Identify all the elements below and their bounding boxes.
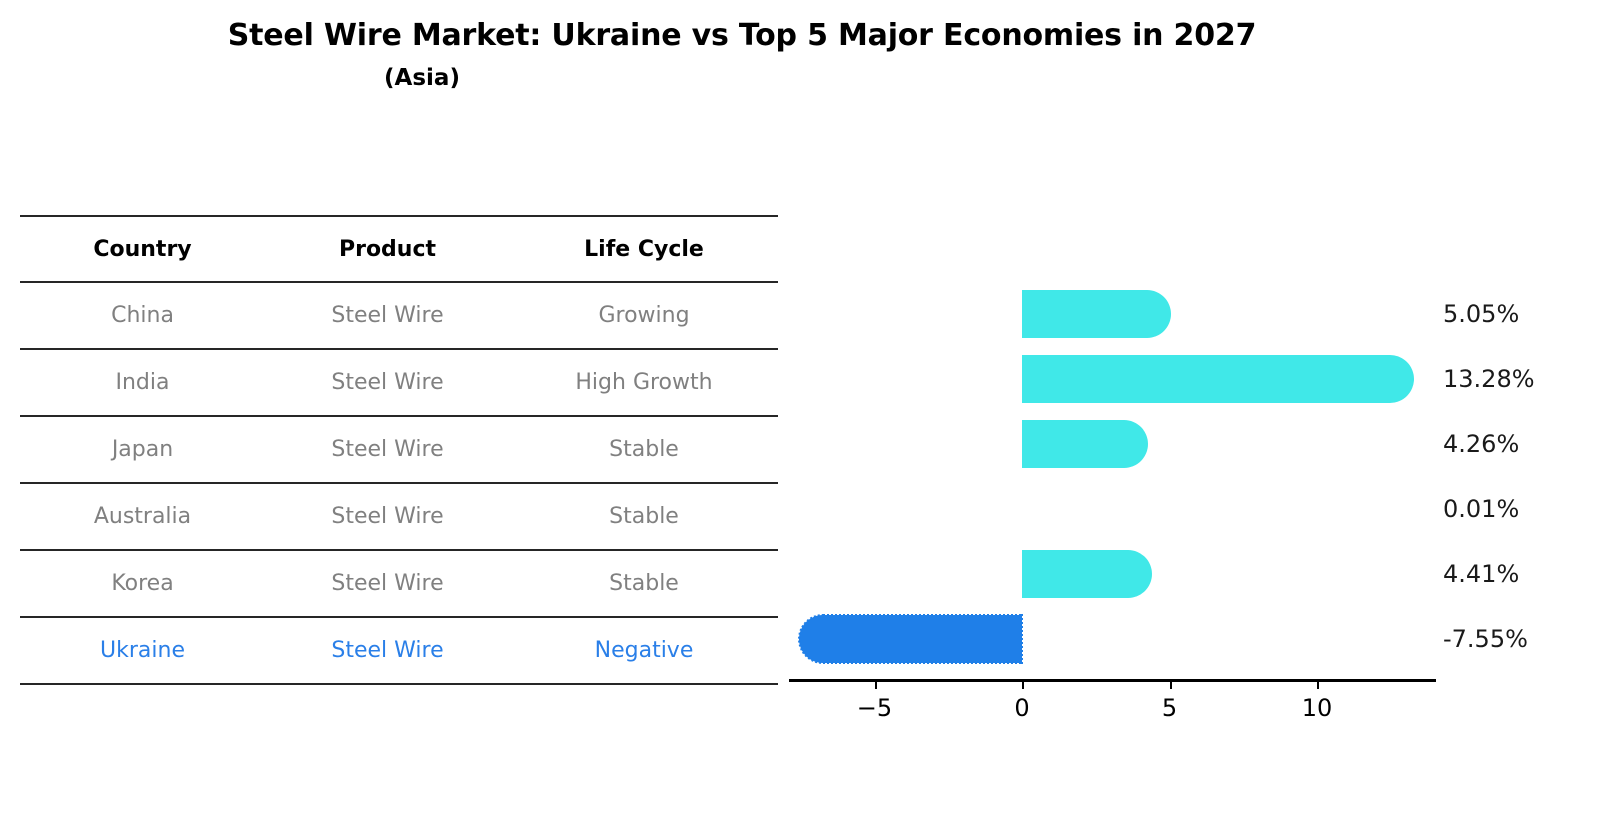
x-tick-5 <box>1170 680 1172 689</box>
bar-value-label-korea: 4.41% <box>1443 550 1519 598</box>
cell-product: Steel Wire <box>265 349 510 416</box>
bar-value-label-japan: 4.26% <box>1443 420 1519 468</box>
table-row: Australia Steel Wire Stable <box>20 483 778 550</box>
column-header-country: Country <box>20 216 265 282</box>
bar-value-label-india: 13.28% <box>1443 355 1535 403</box>
x-tick-label-0: 0 <box>982 694 1062 722</box>
x-tick-0 <box>1022 680 1024 689</box>
cell-life-cycle: Negative <box>510 617 778 684</box>
cell-country: China <box>20 282 265 349</box>
cell-country: India <box>20 349 265 416</box>
table-row: Korea Steel Wire Stable <box>20 550 778 617</box>
cell-product: Steel Wire <box>265 282 510 349</box>
x-tick-label--5: −5 <box>835 694 915 722</box>
x-tick-label-5: 5 <box>1130 694 1210 722</box>
page-subtitle: (Asia) <box>0 58 1604 98</box>
table-row: India Steel Wire High Growth <box>20 349 778 416</box>
bar-ukraine <box>799 615 1022 663</box>
bar-value-label-china: 5.05% <box>1443 290 1519 338</box>
bar-korea <box>1022 550 1152 598</box>
bar-japan <box>1022 420 1148 468</box>
cell-country: Ukraine <box>20 617 265 684</box>
x-axis-line <box>789 679 1436 682</box>
column-header-life-cycle: Life Cycle <box>510 216 778 282</box>
bar-value-label-australia: 0.01% <box>1443 485 1519 533</box>
x-tick-10 <box>1317 680 1319 689</box>
cell-country: Japan <box>20 416 265 483</box>
market-table-panel: Country Product Life Cycle China Steel W… <box>20 215 778 685</box>
table-row: Japan Steel Wire Stable <box>20 416 778 483</box>
market-table: Country Product Life Cycle China Steel W… <box>20 215 778 685</box>
cell-country: Australia <box>20 483 265 550</box>
cell-life-cycle: Growing <box>510 282 778 349</box>
cell-product: Steel Wire <box>265 550 510 617</box>
cell-life-cycle: Stable <box>510 483 778 550</box>
bar-china <box>1022 290 1171 338</box>
cell-life-cycle: High Growth <box>510 349 778 416</box>
table-row: China Steel Wire Growing <box>20 282 778 349</box>
cell-life-cycle: Stable <box>510 550 778 617</box>
bar-india <box>1022 355 1414 403</box>
cell-product: Steel Wire <box>265 483 510 550</box>
cell-product: Steel Wire <box>265 416 510 483</box>
column-header-product: Product <box>265 216 510 282</box>
bar-value-label-ukraine: -7.55% <box>1443 615 1528 663</box>
x-tick--5 <box>875 680 877 689</box>
table-row-highlighted: Ukraine Steel Wire Negative <box>20 617 778 684</box>
cell-country: Korea <box>20 550 265 617</box>
title-block: Steel Wire Market: Ukraine vs Top 5 Majo… <box>0 14 1604 98</box>
x-tick-label-10: 10 <box>1277 694 1357 722</box>
page-title: Steel Wire Market: Ukraine vs Top 5 Majo… <box>0 14 1604 58</box>
table-header-row: Country Product Life Cycle <box>20 216 778 282</box>
cell-life-cycle: Stable <box>510 416 778 483</box>
cell-product: Steel Wire <box>265 617 510 684</box>
